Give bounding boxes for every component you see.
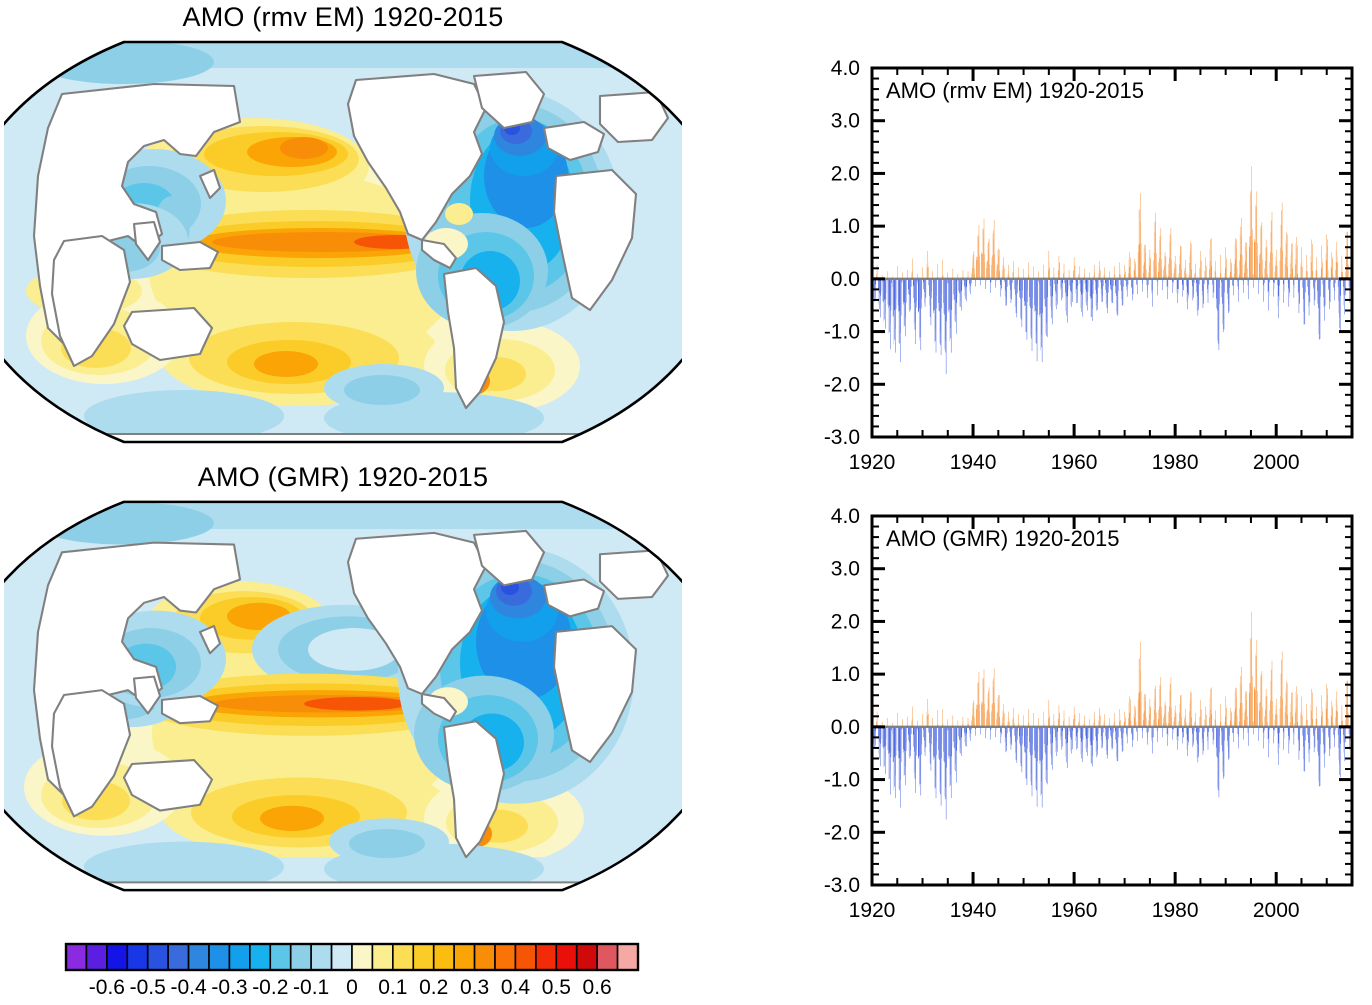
globe-top-field — [4, 36, 682, 448]
y-tick-label: 3.0 — [831, 110, 860, 133]
map-title-bottom: AMO (GMR) 1920-2015 — [4, 462, 682, 493]
colorbar-tick-label: 0.3 — [460, 976, 489, 999]
colorbar-cell — [597, 944, 617, 970]
colorbar-cell — [577, 944, 597, 970]
globe-bottom-field — [4, 496, 682, 896]
y-tick-label: -3.0 — [824, 426, 860, 449]
colorbar-tick-label: 0.5 — [542, 976, 571, 999]
panel-title: AMO (rmv EM) 1920-2015 — [886, 78, 1144, 103]
globe-top-svg — [4, 36, 682, 448]
colorbar-tick-label: 0.1 — [378, 976, 407, 999]
y-tick-label: 1.0 — [831, 215, 860, 238]
y-tick-label: 1.0 — [831, 663, 860, 686]
colorbar-cell — [618, 944, 638, 970]
y-tick-label: 2.0 — [831, 162, 860, 185]
colorbar-tick-label: -0.3 — [211, 976, 247, 999]
y-tick-label: -1.0 — [824, 769, 860, 792]
timeseries-panel-bottom: -3.0-2.0-1.00.01.02.03.04.01920194019601… — [800, 488, 1368, 928]
colorbar-cell — [250, 944, 270, 970]
y-tick-label: 0.0 — [831, 716, 860, 739]
y-tick-label: 4.0 — [831, 57, 860, 80]
plot-background — [872, 516, 1352, 885]
colorbar-cell — [66, 944, 86, 970]
y-tick-label: 0.0 — [831, 268, 860, 291]
y-tick-label: 4.0 — [831, 505, 860, 528]
colorbar-cell — [229, 944, 249, 970]
x-tick-label: 1920 — [849, 899, 896, 922]
colorbar-tick-label: 0.6 — [583, 976, 612, 999]
timeseries-top-group: -3.0-2.0-1.00.01.02.03.04.01920194019601… — [824, 57, 1352, 474]
colorbar-cell — [209, 944, 229, 970]
colorbar-cells — [66, 944, 638, 970]
colorbar-tick-label: -0.6 — [89, 976, 125, 999]
x-tick-label: 1980 — [1152, 899, 1199, 922]
colorbar-tick-label: -0.2 — [252, 976, 288, 999]
colorbar-cell — [332, 944, 352, 970]
y-tick-label: 2.0 — [831, 610, 860, 633]
colorbar-cell — [372, 944, 392, 970]
colorbar-cell — [86, 944, 106, 970]
timeseries-top-svg: -3.0-2.0-1.00.01.02.03.04.01920194019601… — [800, 40, 1368, 480]
colorbar: -0.6-0.5-0.4-0.3-0.2-0.100.10.20.30.40.5… — [40, 930, 660, 1002]
y-tick-label: -2.0 — [824, 821, 860, 844]
figure-root: AMO (rmv EM) 1920-2015 — [0, 0, 1372, 1005]
colorbar-cell — [515, 944, 535, 970]
y-tick-label: -2.0 — [824, 373, 860, 396]
x-tick-label: 1940 — [950, 899, 997, 922]
globe-bottom-svg — [4, 496, 682, 896]
colorbar-tick-label: 0.2 — [419, 976, 448, 999]
colorbar-cell — [352, 944, 372, 970]
y-tick-label: 3.0 — [831, 558, 860, 581]
colorbar-cell — [495, 944, 515, 970]
y-tick-label: -1.0 — [824, 321, 860, 344]
colorbar-cell — [393, 944, 413, 970]
colorbar-tick-label: -0.4 — [170, 976, 207, 999]
timeseries-bottom-svg: -3.0-2.0-1.00.01.02.03.04.01920194019601… — [800, 488, 1368, 928]
timeseries-panel-top: -3.0-2.0-1.00.01.02.03.04.01920194019601… — [800, 40, 1368, 480]
colorbar-cell — [291, 944, 311, 970]
colorbar-tick-label: -0.5 — [130, 976, 166, 999]
x-tick-label: 1980 — [1152, 451, 1199, 474]
x-tick-label: 1960 — [1051, 899, 1098, 922]
colorbar-cell — [168, 944, 188, 970]
panel-title: AMO (GMR) 1920-2015 — [886, 526, 1120, 551]
colorbar-cell — [127, 944, 147, 970]
globe-top — [4, 36, 682, 448]
map-panel-top: AMO (rmv EM) 1920-2015 — [4, 0, 682, 448]
colorbar-cell — [148, 944, 168, 970]
map-panel-bottom: AMO (GMR) 1920-2015 — [4, 448, 682, 896]
colorbar-tick-label: 0.4 — [501, 976, 531, 999]
colorbar-cell — [454, 944, 474, 970]
globe-bottom — [4, 496, 682, 896]
x-tick-label: 1960 — [1051, 451, 1098, 474]
x-tick-label: 2000 — [1253, 451, 1300, 474]
colorbar-cell — [311, 944, 331, 970]
colorbar-cell — [536, 944, 556, 970]
colorbar-cell — [475, 944, 495, 970]
x-tick-label: 2000 — [1253, 899, 1300, 922]
plot-background — [872, 68, 1352, 437]
colorbar-cell — [270, 944, 290, 970]
colorbar-cell — [556, 944, 576, 970]
x-tick-label: 1940 — [950, 451, 997, 474]
colorbar-cell — [413, 944, 433, 970]
timeseries-bottom-group: -3.0-2.0-1.00.01.02.03.04.01920194019601… — [824, 505, 1352, 922]
colorbar-cell — [189, 944, 209, 970]
y-tick-label: -3.0 — [824, 874, 860, 897]
colorbar-tick-label: 0 — [346, 976, 358, 999]
colorbar-svg: -0.6-0.5-0.4-0.3-0.2-0.100.10.20.30.40.5… — [40, 930, 660, 1002]
x-tick-label: 1920 — [849, 451, 896, 474]
colorbar-labels: -0.6-0.5-0.4-0.3-0.2-0.100.10.20.30.40.5… — [89, 976, 612, 999]
colorbar-cell — [107, 944, 127, 970]
colorbar-cell — [434, 944, 454, 970]
colorbar-tick-label: -0.1 — [293, 976, 329, 999]
map-title-top: AMO (rmv EM) 1920-2015 — [4, 2, 682, 33]
